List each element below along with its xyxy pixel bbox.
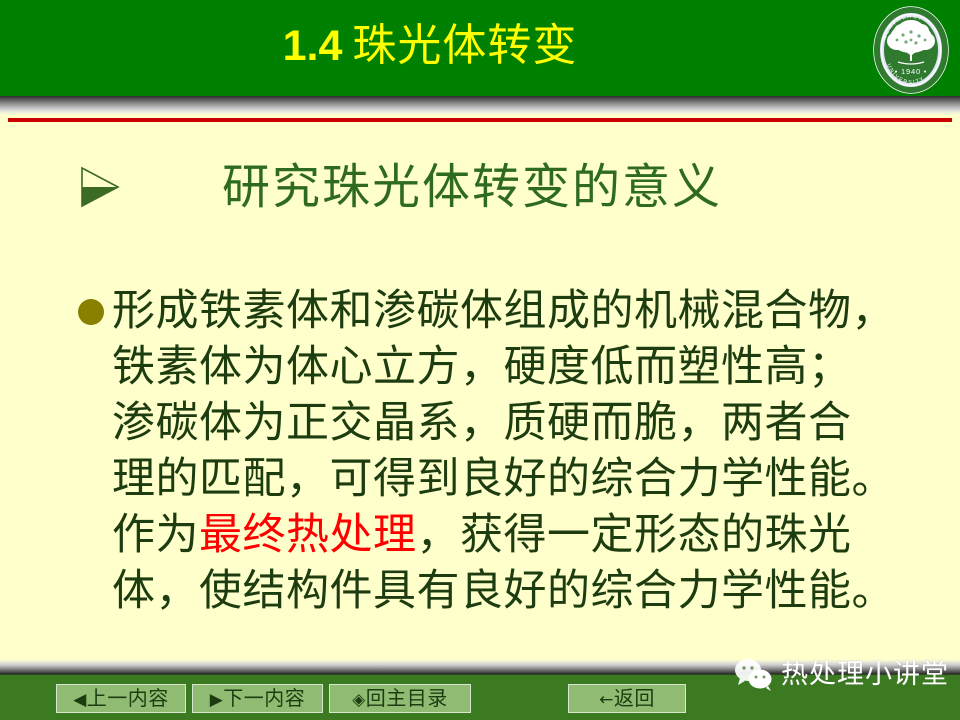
- watermark-text: 热处理小讲堂: [781, 658, 949, 692]
- section-heading-text: 研究珠光体转变的意义: [222, 150, 722, 224]
- body-text-run: 形成铁素体和渗碳体组成的机械混合物，: [112, 286, 895, 336]
- slide-title-number: 1.4: [283, 22, 343, 70]
- slide-title-text: 珠光体转变: [352, 20, 577, 71]
- prev-content-button[interactable]: ◀上一内容: [56, 684, 186, 713]
- body-text-run: 体，使结构件具有良好的综合力学性能。: [112, 566, 895, 616]
- slide-title: 1.4珠光体转变: [0, 17, 860, 75]
- body-line: 形成铁素体和渗碳体组成的机械混合物，: [112, 283, 940, 339]
- body-text-run: 渗碳体为正交晶系，质硬而脆，两者合: [112, 398, 852, 448]
- back-label: 返回: [614, 686, 655, 710]
- prev-content-label: 上一内容: [87, 686, 169, 710]
- body-line: 理的匹配，可得到良好的综合力学性能。: [112, 451, 940, 507]
- diamond-icon: ◈: [352, 690, 366, 710]
- filled-circle-bullet-icon: [78, 299, 104, 325]
- channel-watermark: 热处理小讲堂: [733, 657, 949, 693]
- back-button[interactable]: ←返回: [568, 684, 686, 713]
- main-menu-button[interactable]: ◈回主目录: [329, 684, 471, 713]
- section-heading: 研究珠光体转变的意义: [72, 150, 902, 230]
- university-seal-icon: • 1940 • NORTHEAST UNIVERSITY: [872, 5, 950, 95]
- arrowhead-bullet-icon: [76, 156, 136, 216]
- body-line: 铁素体为体心立方，硬度低而塑性高；: [112, 339, 940, 395]
- body-paragraph: 形成铁素体和渗碳体组成的机械混合物，铁素体为体心立方，硬度低而塑性高；渗碳体为正…: [112, 283, 940, 619]
- main-menu-label: 回主目录: [366, 686, 448, 710]
- triangle-left-icon: ◀: [73, 690, 87, 710]
- body-text-run: ，获得一定形态的珠光: [417, 510, 852, 560]
- arrow-left-icon: ←: [599, 690, 614, 710]
- body-line: 渗碳体为正交晶系，质硬而脆，两者合: [112, 395, 940, 451]
- highlighted-term: 最终热处理: [199, 510, 417, 560]
- body-text-run: 铁素体为体心立方，硬度低而塑性高；: [112, 342, 852, 392]
- presentation-slide: 1.4珠光体转变: [0, 0, 960, 720]
- wechat-icon: [733, 658, 775, 692]
- svg-text:• 1940 •: • 1940 •: [895, 67, 928, 76]
- body-line: 作为最终热处理，获得一定形态的珠光: [112, 507, 940, 563]
- header-gradient-strip: [0, 96, 960, 115]
- triangle-right-icon: ▶: [210, 690, 224, 710]
- body-text-run: 理的匹配，可得到良好的综合力学性能。: [112, 454, 895, 504]
- next-content-label: 下一内容: [223, 686, 305, 710]
- next-content-button[interactable]: ▶下一内容: [192, 684, 323, 713]
- body-line: 体，使结构件具有良好的综合力学性能。: [112, 563, 940, 619]
- header-red-rule: [8, 118, 952, 122]
- body-text-run: 作为: [112, 510, 199, 560]
